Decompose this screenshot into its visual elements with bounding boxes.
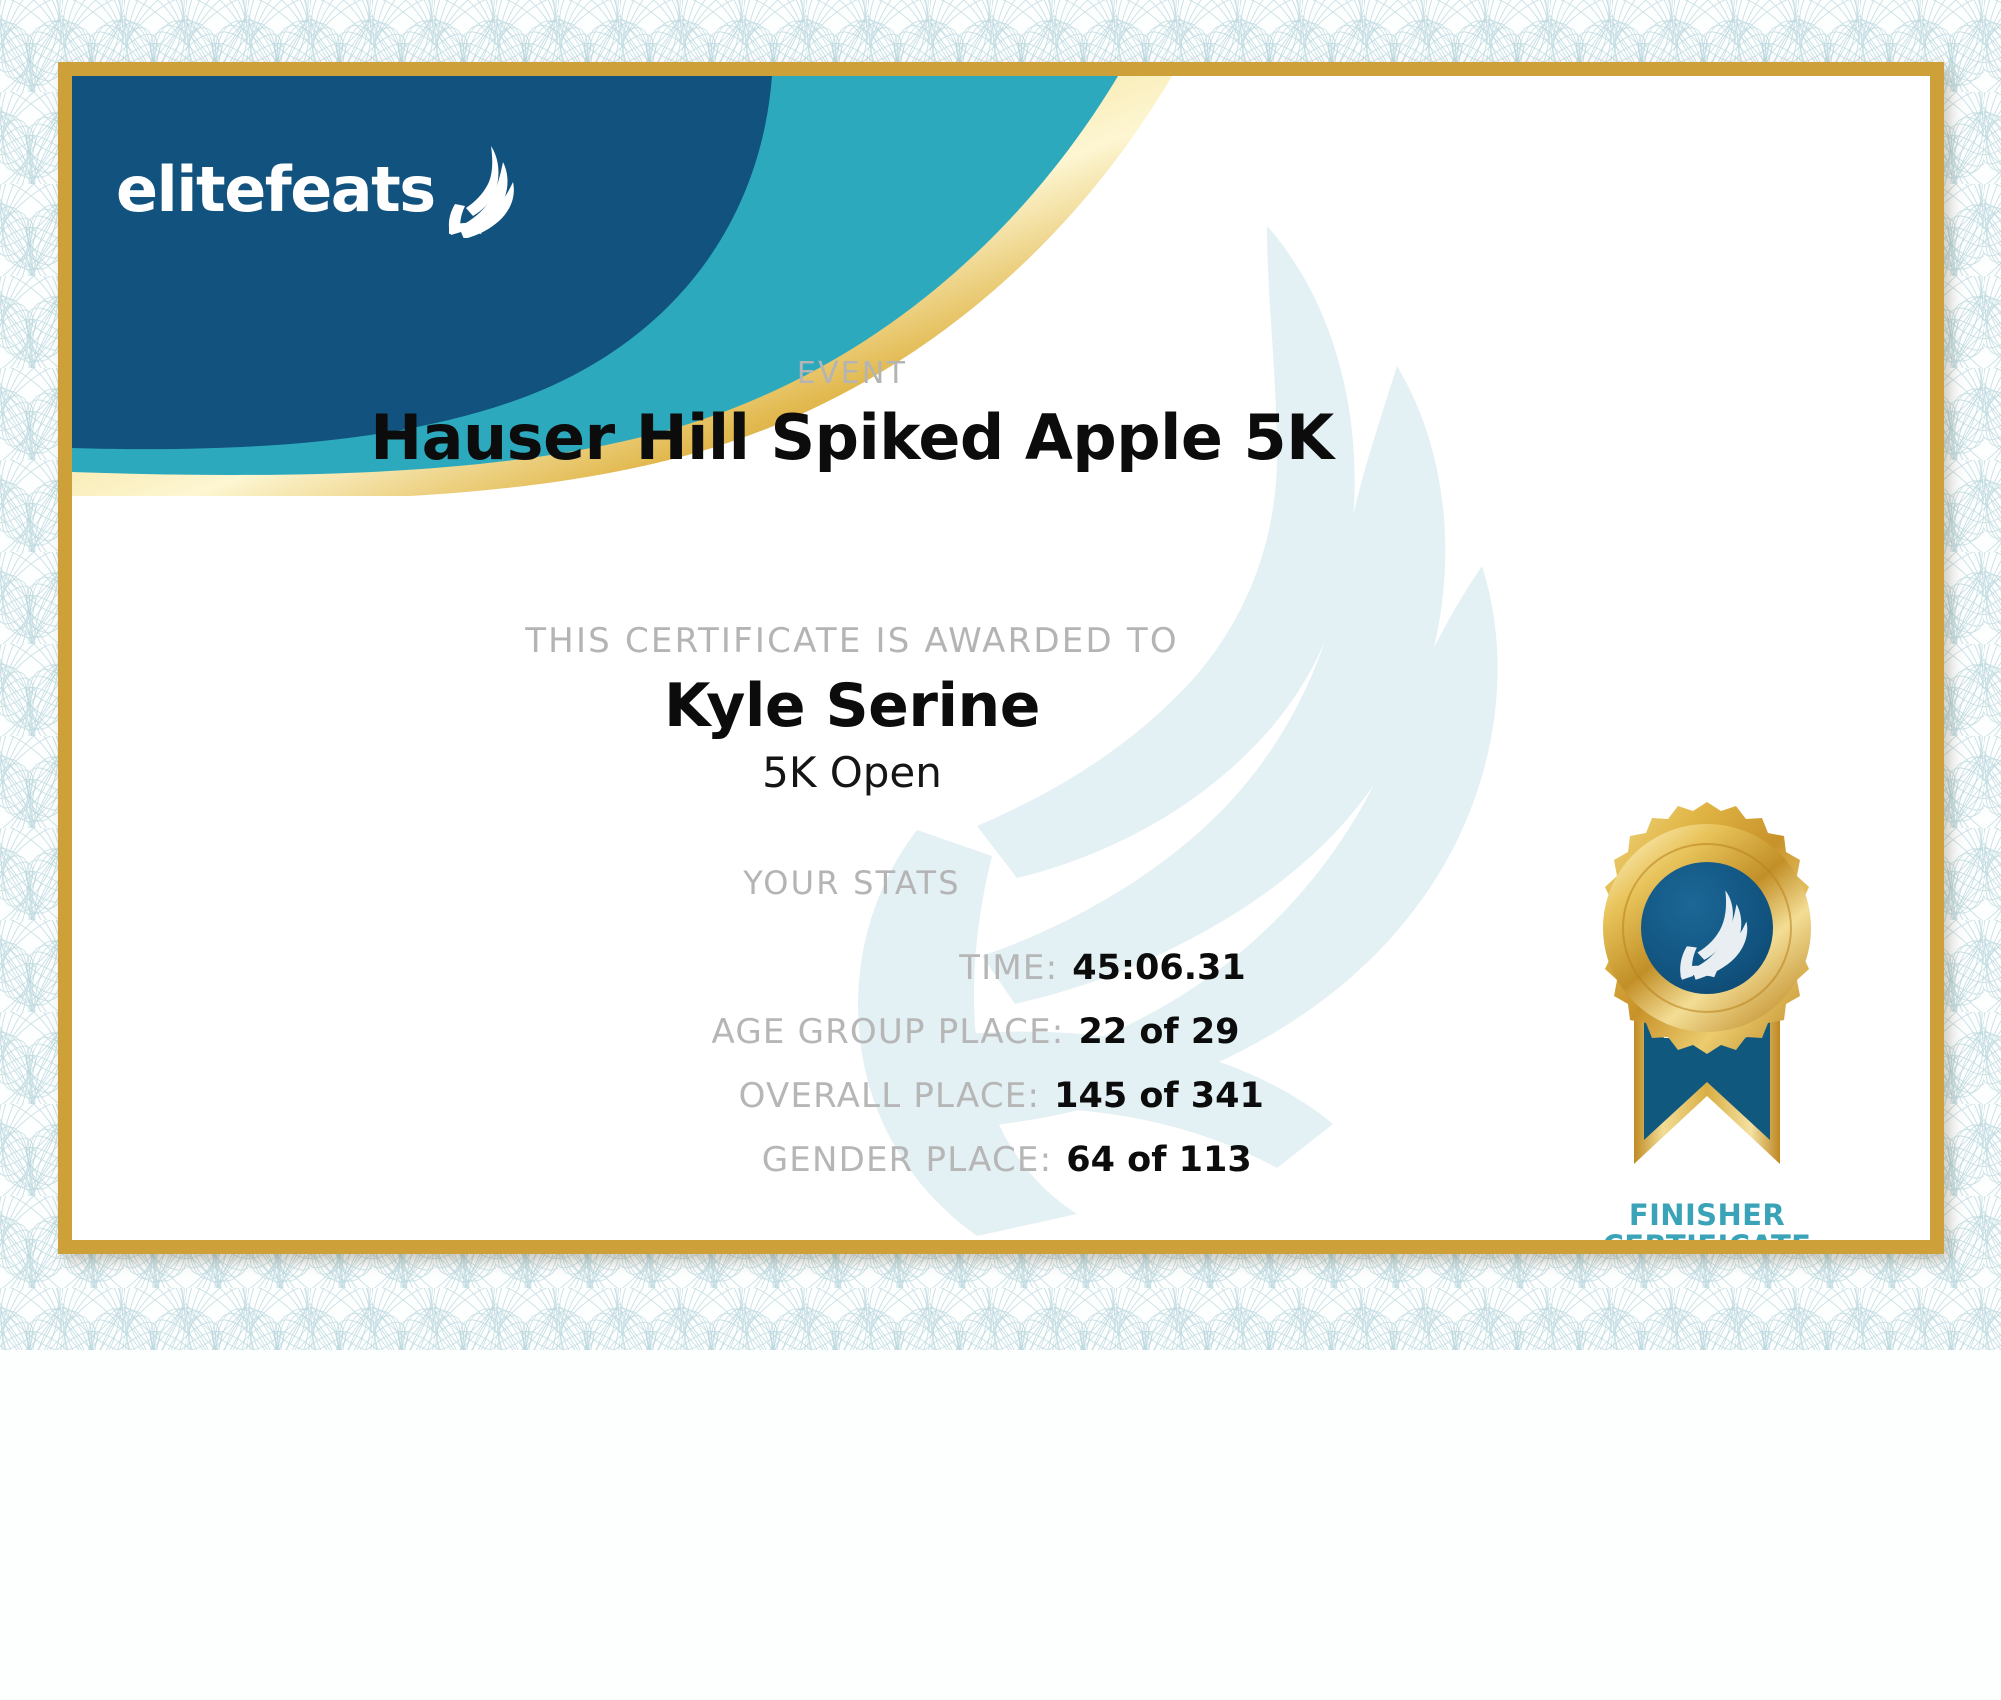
recipient-name: Kyle Serine <box>72 671 1632 741</box>
stat-label: OVERALL PLACE: <box>440 1076 1040 1116</box>
your-stats-label: YOUR STATS <box>72 864 1632 902</box>
badge-caption: FINISHER CERTIFICATE <box>1542 1200 1872 1240</box>
recipient-division: 5K Open <box>72 748 1632 797</box>
stat-row-age-group-place: AGE GROUP PLACE: 22 of 29 <box>72 1012 1632 1076</box>
stat-value: 45:06.31 <box>1058 948 1245 988</box>
stat-label: TIME: <box>458 948 1058 988</box>
stat-value: 145 of 341 <box>1040 1076 1264 1116</box>
certificate-body: elitefeats EVENT Hauser Hill Spiked Appl… <box>72 76 1930 1240</box>
stat-value: 64 of 113 <box>1052 1140 1251 1180</box>
event-label: EVENT <box>72 356 1632 391</box>
stat-label: AGE GROUP PLACE: <box>464 1012 1064 1052</box>
stat-label: GENDER PLACE: <box>452 1140 1052 1180</box>
finisher-badge: 2025 <box>1542 798 1872 1240</box>
badge-caption-line1: FINISHER <box>1542 1200 1872 1231</box>
badge-caption-line2: CERTIFICATE <box>1542 1231 1872 1240</box>
stat-row-gender-place: GENDER PLACE: 64 of 113 <box>72 1140 1632 1204</box>
stat-row-overall-place: OVERALL PLACE: 145 of 341 <box>72 1076 1632 1140</box>
awarded-to-label: THIS CERTIFICATE IS AWARDED TO <box>72 621 1632 661</box>
stat-value: 22 of 29 <box>1064 1012 1239 1052</box>
medal-ribbon-icon: 2025 <box>1562 798 1852 1198</box>
certificate-page: elitefeats EVENT Hauser Hill Spiked Appl… <box>0 0 2001 1700</box>
event-title: Hauser Hill Spiked Apple 5K <box>72 401 1632 474</box>
certificate-gold-frame: elitefeats EVENT Hauser Hill Spiked Appl… <box>58 62 1944 1254</box>
certificate-content: EVENT Hauser Hill Spiked Apple 5K THIS C… <box>72 76 1930 1240</box>
stat-row-time: TIME: 45:06.31 <box>72 948 1632 1012</box>
stats-table: TIME: 45:06.31 AGE GROUP PLACE: 22 of 29… <box>72 948 1632 1204</box>
